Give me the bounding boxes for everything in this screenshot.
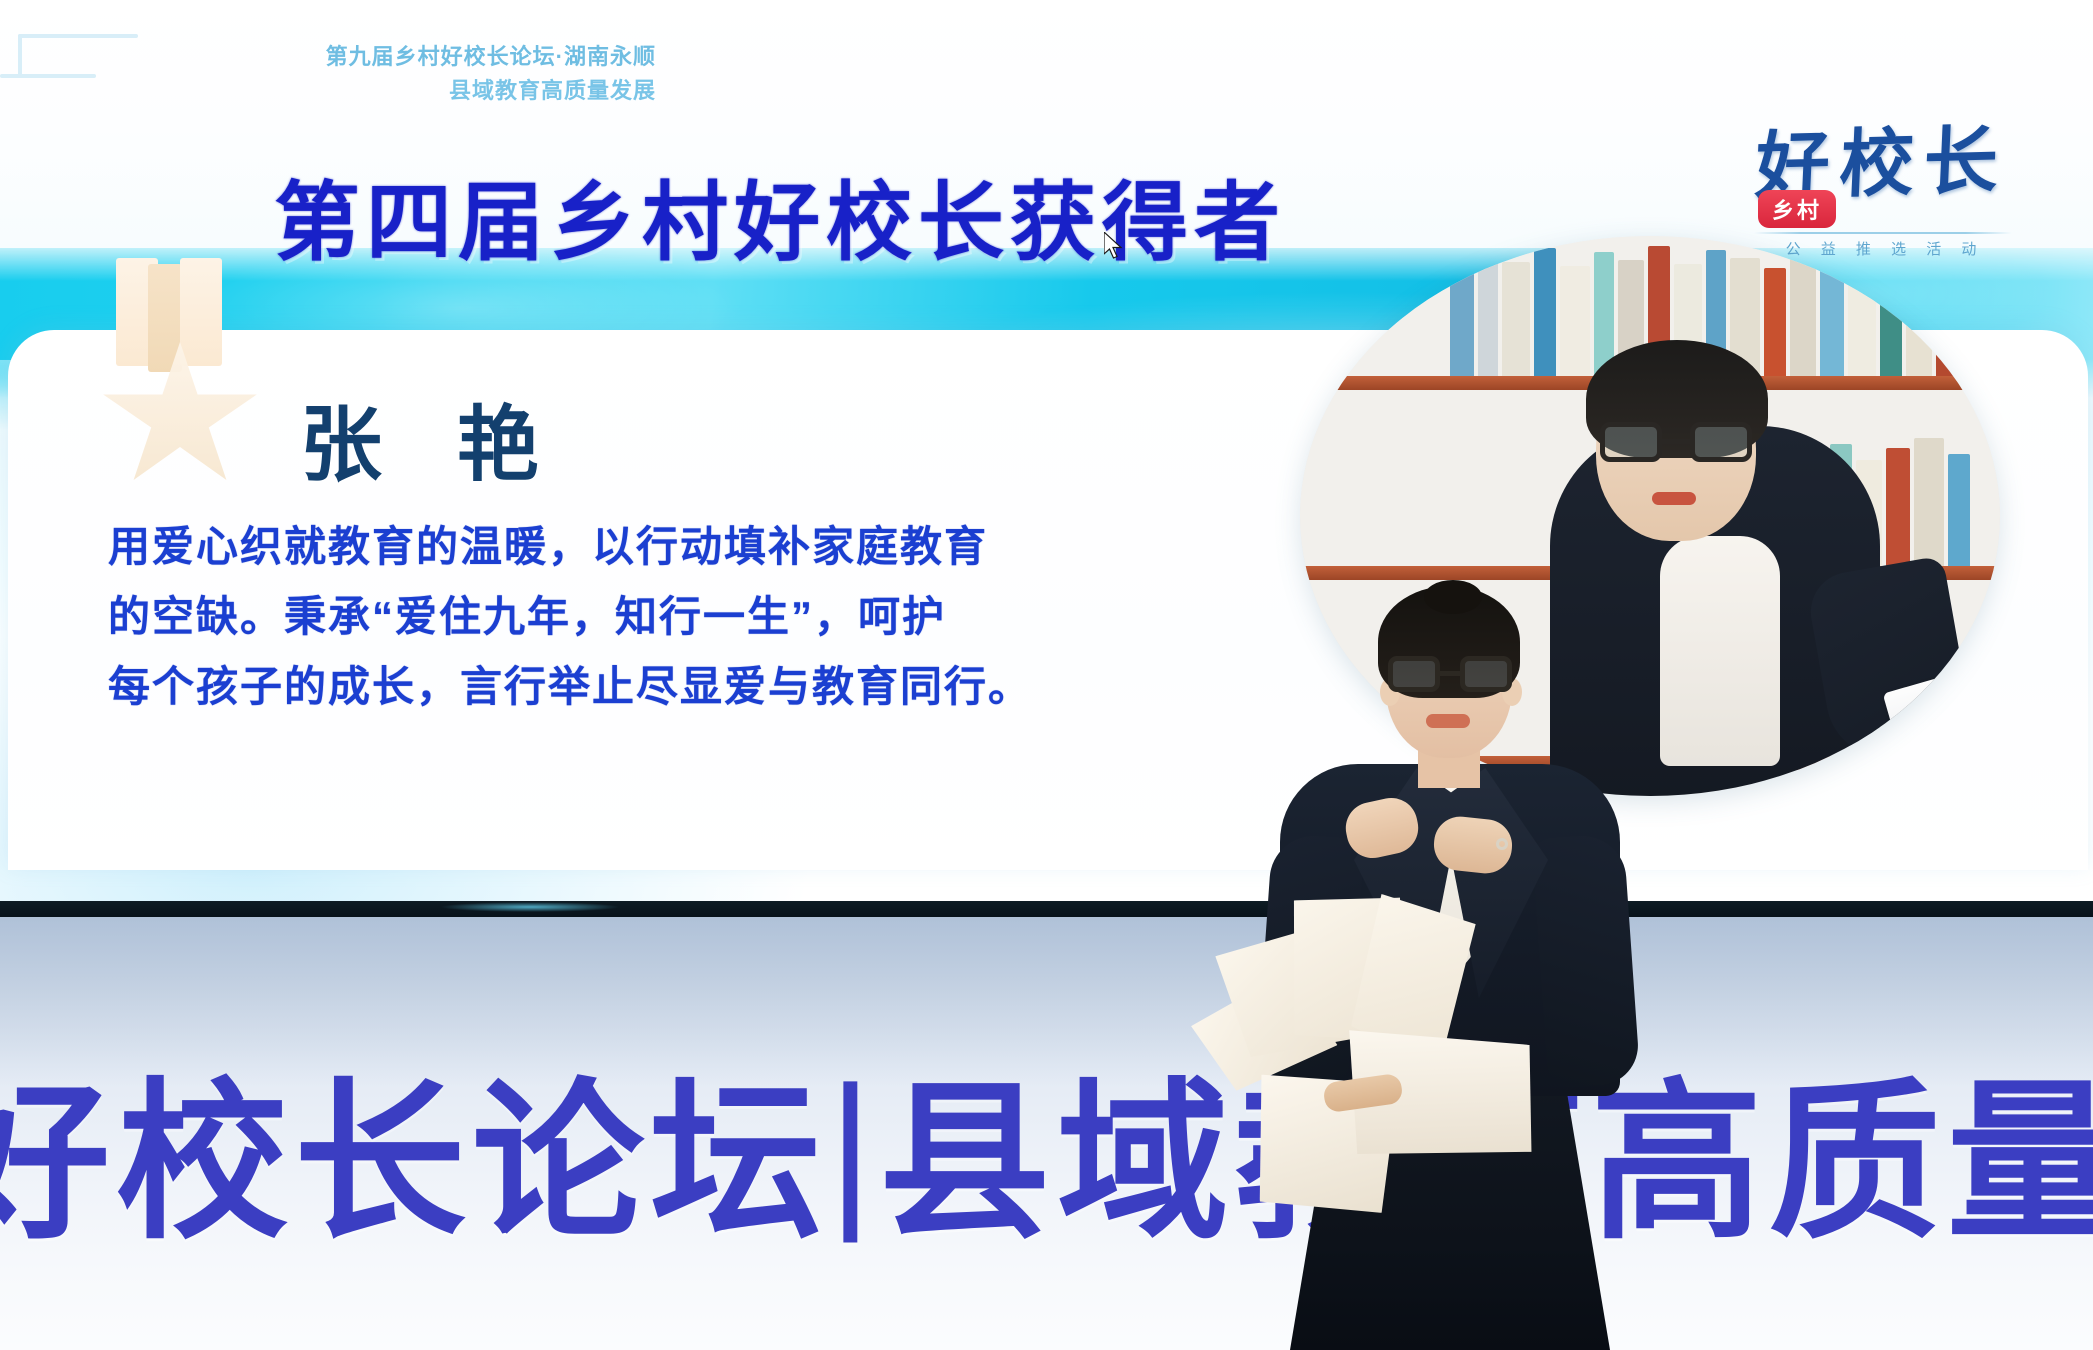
stage-gap-glow: [440, 902, 620, 912]
wall-banner-text: 好校长论坛 | 县域教育高质量发展: [0, 1022, 2093, 1272]
screen-header: 第九届乡村好校长论坛·湖南永顺 县域教育高质量发展: [236, 40, 656, 108]
description-line: 每个孩子的成长，言行举止尽显爱与教育同行。: [108, 652, 1238, 722]
bracket-decoration-side: [18, 34, 22, 78]
medal-star-icon: [88, 258, 278, 438]
description-line: 的空缺。秉承“爱住九年，知行一生”，呵护: [108, 582, 1238, 652]
award-recipient-name: 张 艳: [300, 378, 565, 497]
stage-recipient: [1228, 586, 1658, 1350]
bracket-decoration-top: [18, 34, 138, 38]
stage-scene: 第九届乡村好校长论坛·湖南永顺 县域教育高质量发展 第四届乡村好校长获得者 张 …: [0, 0, 2093, 1350]
stage-gap-band: [0, 901, 2093, 917]
header-line-2: 县域教育高质量发展: [236, 74, 656, 108]
brand-logo: 好校长 乡村 公 益 推 选 活 动: [1742, 104, 2032, 254]
award-description: 用爱心织就教育的温暖，以行动填补家庭教育 的空缺。秉承“爱住九年，知行一生”，呵…: [108, 512, 1238, 722]
wall-banner-separator: |: [828, 1048, 879, 1246]
bouquet: [1206, 882, 1566, 1152]
logo-divider: [1754, 232, 2012, 234]
header-line-1: 第九届乡村好校长论坛·湖南永顺: [236, 40, 656, 74]
mouse-cursor: [1104, 232, 1126, 262]
logo-badge: 乡村: [1758, 190, 1836, 228]
led-screen: 第九届乡村好校长论坛·湖南永顺 县域教育高质量发展 第四届乡村好校长获得者 张 …: [0, 0, 2093, 905]
description-line: 用爱心织就教育的温暖，以行动填补家庭教育: [108, 512, 1238, 582]
bracket-decoration-bottom: [0, 74, 96, 78]
wall-banner-left: 好校长论坛: [0, 1022, 828, 1272]
